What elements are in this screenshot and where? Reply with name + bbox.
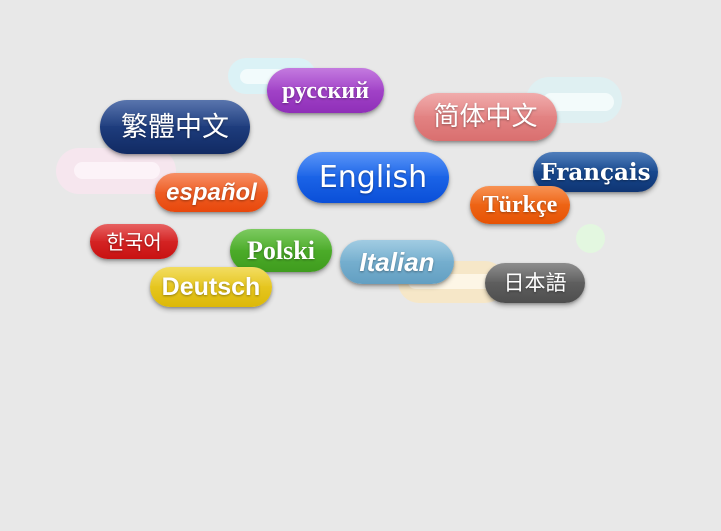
language-pill-spanish[interactable]: español bbox=[155, 173, 268, 212]
language-selector-canvas: 繁體中文русский简体中文EnglishFrançaisespañolTür… bbox=[0, 0, 721, 531]
language-pill-german[interactable]: Deutsch bbox=[150, 267, 272, 307]
language-pill-english[interactable]: English bbox=[297, 152, 449, 203]
language-pill-korean[interactable]: 한국어 bbox=[90, 224, 178, 259]
language-pill-italian[interactable]: Italian bbox=[340, 240, 454, 284]
blob-mint-circle bbox=[576, 224, 605, 253]
language-pill-polish[interactable]: Polski bbox=[230, 229, 332, 272]
language-pill-simplified-chinese[interactable]: 简体中文 bbox=[414, 93, 557, 141]
language-pill-japanese[interactable]: 日本語 bbox=[485, 263, 585, 303]
language-pill-russian[interactable]: русский bbox=[267, 68, 384, 113]
blob-pink-left-highlight bbox=[74, 162, 160, 179]
language-pill-turkish[interactable]: Türkçe bbox=[470, 186, 570, 224]
language-pill-traditional-chinese[interactable]: 繁體中文 bbox=[100, 100, 250, 154]
